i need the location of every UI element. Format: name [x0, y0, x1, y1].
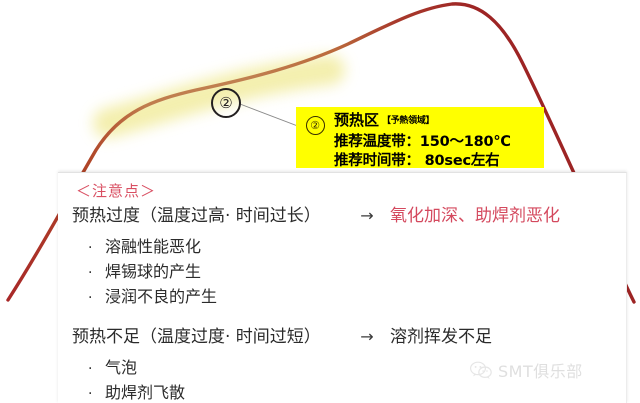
arrow-icon: → — [344, 203, 390, 228]
effect-label: 焊锡球的产生 — [105, 260, 201, 284]
effect-label: 气泡 — [105, 356, 137, 380]
section-spacer — [72, 310, 626, 324]
effect-list: · 溶融性能恶化 · 焊锡球的产生 · 浸润不良的产生 — [72, 235, 626, 310]
cause-row: 预热不足（温度过度· 时间过短） → 溶剂挥发不足 — [72, 324, 626, 350]
list-item: · 助焊剂飞散 — [88, 381, 626, 403]
result-label: 溶剂挥发不足 — [390, 325, 492, 350]
wechat-icon — [470, 361, 492, 380]
cause-label: 预热不足（温度过度· 时间过短） — [72, 325, 344, 350]
watermark-text: SMT俱乐部 — [498, 358, 583, 382]
callout-number-label: ② — [310, 120, 320, 131]
callout-title-row: 预热区【予熱領域】 — [334, 112, 540, 132]
list-item: · 焊锡球的产生 — [88, 260, 626, 285]
callout-title-cn: 预热区 — [334, 111, 379, 129]
cause-label: 预热过度（温度过高· 时间过长） — [72, 204, 344, 229]
watermark: SMT俱乐部 — [470, 358, 583, 382]
callout-title-jp: 【予熱領域】 — [382, 116, 434, 126]
curve-marker-2[interactable]: ② — [211, 88, 241, 118]
bullet-dot: · — [88, 382, 105, 403]
bullet-dot: · — [88, 357, 105, 381]
screenshot-root: ② ② 预热区【予熱領域】 推荐温度带：150～180℃ 推荐时间带： 80se… — [0, 0, 640, 403]
callout-number-wrap: ② — [296, 112, 334, 135]
callout-number-circle: ② — [306, 116, 325, 135]
note-block-overheat: 预热过度（温度过高· 时间过长） → 氧化加深、助焊剂恶化 · 溶融性能恶化 ·… — [72, 203, 626, 310]
callout-time-range: 推荐时间带： 80sec左右 — [334, 152, 540, 171]
effect-label: 助焊剂飞散 — [105, 381, 185, 403]
result-label: 氧化加深、助焊剂恶化 — [390, 204, 560, 229]
callout-text-lines: 预热区【予熱領域】 推荐温度带：150～180℃ 推荐时间带： 80sec左右 — [334, 112, 544, 171]
preheat-callout-box[interactable]: ② 预热区【予熱領域】 推荐温度带：150～180℃ 推荐时间带： 80sec左… — [296, 107, 544, 168]
bullet-dot: · — [88, 286, 105, 310]
bullet-dot: · — [88, 236, 105, 260]
curve-marker-label: ② — [219, 96, 232, 111]
effect-label: 浸润不良的产生 — [105, 285, 217, 309]
bullet-dot: · — [88, 261, 105, 285]
effect-label: 溶融性能恶化 — [105, 235, 201, 259]
arrow-icon: → — [344, 324, 390, 349]
list-item: · 浸润不良的产生 — [88, 285, 626, 310]
cause-row: 预热过度（温度过高· 时间过长） → 氧化加深、助焊剂恶化 — [72, 203, 626, 229]
caution-heading: ＜注意点＞ — [76, 181, 626, 201]
callout-temp-range: 推荐温度带：150～180℃ — [334, 133, 540, 152]
list-item: · 溶融性能恶化 — [88, 235, 626, 260]
